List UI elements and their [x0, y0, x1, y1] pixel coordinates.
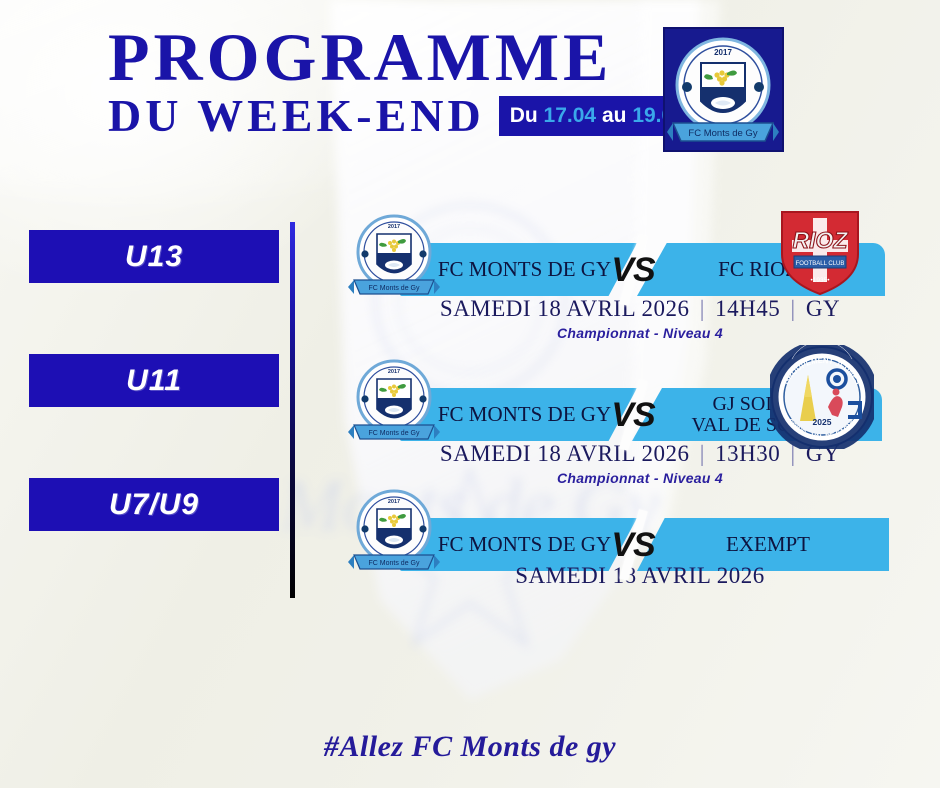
- svg-text:RIOZ: RIOZ: [793, 227, 849, 253]
- vs-label: VS: [593, 396, 673, 435]
- category-badge-u11[interactable]: U11: [29, 354, 279, 407]
- gj-soing-val-de-saone-logo-icon: GROUPEMENT JEUNES SOING - VAL DE SAONE 2…: [770, 345, 874, 449]
- page-subtitle: DU WEEK-END: [108, 93, 485, 139]
- match-competition: Championnat - Niveau 4: [340, 325, 940, 341]
- svg-text:FC Monts de Gy: FC Monts de Gy: [369, 560, 420, 567]
- home-team-name: FC MONTS DE GY: [438, 257, 611, 282]
- vs-label: VS: [593, 251, 673, 290]
- category-badge-u7-u9[interactable]: U7/U9: [29, 478, 279, 531]
- match-row-u13[interactable]: 2017 FC Monts de Gy: [340, 196, 940, 341]
- svg-text:FOOTBALL CLUB: FOOTBALL CLUB: [796, 261, 845, 267]
- fc-rioz-logo-icon: RIOZ FOOTBALL CLUB •1935•: [772, 202, 868, 298]
- hashtag-label: #Allez FC Monts de gy: [324, 730, 616, 763]
- vs-badge: VS: [593, 234, 673, 306]
- vertical-divider: [290, 222, 295, 598]
- fc-monts-de-gy-logo-icon: 2017 FC Monts de Gy: [348, 485, 440, 577]
- home-team-name: FC MONTS DE GY: [438, 402, 611, 427]
- svg-text:2017: 2017: [714, 48, 732, 57]
- svg-text:FC Monts de Gy: FC Monts de Gy: [369, 285, 420, 292]
- vs-badge: VS: [593, 509, 673, 581]
- match-row-u7-u9[interactable]: 2017 FC Monts de Gy: [340, 471, 940, 581]
- away-team-name: EXEMPT: [726, 533, 810, 555]
- svg-text:•1935•: •1935•: [810, 277, 830, 284]
- match-list: 2017 FC Monts de Gy: [340, 196, 940, 581]
- separator: |: [696, 441, 709, 466]
- spacer: [29, 407, 279, 478]
- separator: |: [787, 296, 800, 321]
- vs-label: VS: [593, 526, 673, 565]
- spacer: [29, 283, 279, 354]
- svg-text:2025: 2025: [813, 417, 832, 427]
- crest-club-name: FC Monts de Gy: [688, 128, 757, 139]
- page-title: PROGRAMME: [108, 24, 658, 91]
- match-time: 14H45: [715, 296, 780, 321]
- svg-text:2017: 2017: [388, 499, 400, 505]
- title-block: PROGRAMME DU WEEK-END Du 17.04 au 19.04: [108, 24, 658, 139]
- date-middle: au: [602, 104, 627, 127]
- match-venue: GY: [806, 296, 840, 321]
- category-badge-u13[interactable]: U13: [29, 230, 279, 283]
- match-row-u11[interactable]: 2017 FC Monts de Gy: [340, 341, 940, 471]
- date-prefix: Du: [510, 104, 538, 127]
- fc-monts-de-gy-crest-icon: 2017 FC Monts de Gy: [665, 29, 782, 150]
- club-crest-header: 2017 FC Monts de Gy: [663, 27, 784, 152]
- separator: |: [696, 296, 709, 321]
- home-team-name: FC MONTS DE GY: [438, 532, 611, 557]
- date-from: 17.04: [544, 104, 597, 127]
- poster-header: PROGRAMME DU WEEK-END Du 17.04 au 19.04 …: [0, 0, 940, 170]
- fc-monts-de-gy-logo-icon: 2017 FC Monts de Gy: [348, 210, 440, 302]
- svg-text:2017: 2017: [388, 224, 400, 230]
- vs-badge: VS: [593, 379, 673, 451]
- programme-poster: Monts de Gy PROGRAMME DU WEEK-END Du 17.…: [0, 0, 940, 788]
- svg-text:2017: 2017: [388, 369, 400, 375]
- poster-footer: #Allez FC Monts de gy: [0, 730, 940, 764]
- category-column: U13 U11 U7/U9: [29, 230, 279, 531]
- svg-text:FC Monts de Gy: FC Monts de Gy: [369, 430, 420, 437]
- fc-monts-de-gy-logo-icon: 2017 FC Monts de Gy: [348, 355, 440, 447]
